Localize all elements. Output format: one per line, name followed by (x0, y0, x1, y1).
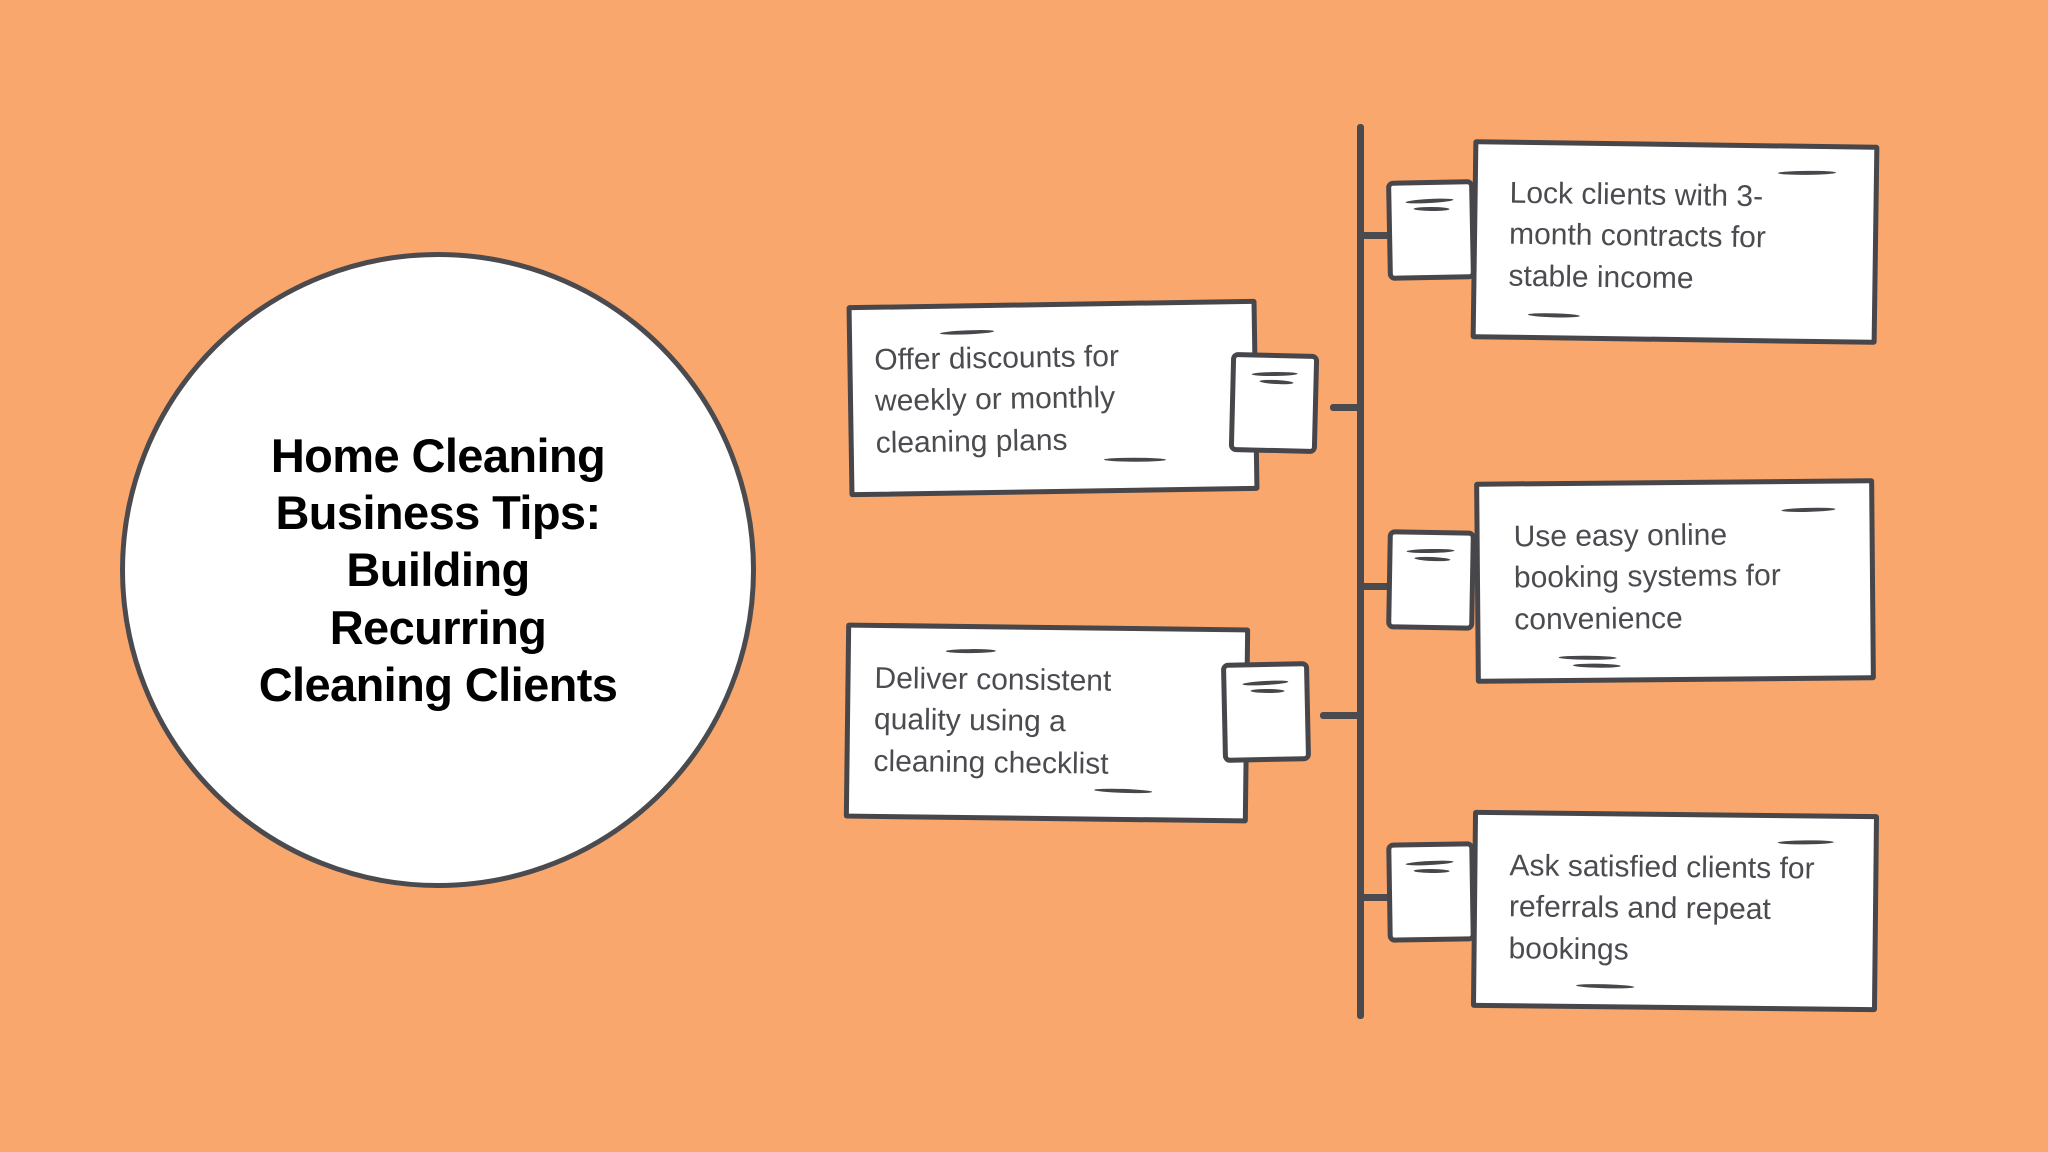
connector-tab-left-2 (1221, 661, 1311, 763)
scribble-dash-icon (1778, 171, 1836, 176)
page-title: Home Cleaning Business Tips: Building Re… (188, 427, 688, 714)
center-topic-circle: Home Cleaning Business Tips: Building Re… (120, 252, 756, 888)
scribble-dash-icon (1094, 788, 1152, 794)
scribble-dash-icon (1778, 840, 1834, 845)
scribble-dash-icon (940, 329, 994, 335)
scribble-dash-icon (1559, 656, 1617, 661)
connector-tab-right-1 (1386, 179, 1476, 281)
scribble-dash-icon (1259, 379, 1293, 385)
connector-tab-left-1 (1229, 352, 1319, 454)
note-card-right-2: Use easy online booking systems for conv… (1474, 478, 1876, 683)
connector-stub-left-1 (1330, 404, 1364, 411)
note-card-text: Use easy online booking systems for conv… (1513, 513, 1854, 640)
note-card-text: Deliver consistent quality using a clean… (873, 658, 1214, 786)
scribble-dash-icon (946, 649, 996, 653)
connector-tab-right-2 (1386, 529, 1476, 631)
scribble-dash-icon (1414, 869, 1450, 873)
note-card-text: Ask satisfied clients for referrals and … (1508, 845, 1854, 973)
scribble-dash-icon (1576, 983, 1634, 989)
infographic-canvas: Home Cleaning Business Tips: Building Re… (0, 0, 2048, 1152)
scribble-dash-icon (1414, 556, 1450, 562)
scribble-dash-icon (1414, 207, 1450, 211)
scribble-dash-icon (1528, 313, 1580, 318)
note-card-right-3: Ask satisfied clients for referrals and … (1471, 810, 1879, 1012)
scribble-dash-icon (1242, 680, 1288, 687)
connector-stub-left-2 (1320, 712, 1364, 719)
scribble-dash-icon (1781, 507, 1835, 512)
note-card-left-1: Offer discounts for weekly or monthly cl… (847, 299, 1260, 497)
spine-line (1357, 124, 1364, 1019)
note-card-right-1: Lock clients with 3- month contracts for… (1471, 139, 1880, 345)
scribble-dash-icon (1406, 549, 1454, 554)
note-card-text: Offer discounts for weekly or monthly cl… (874, 334, 1226, 464)
connector-tab-right-3 (1386, 841, 1476, 942)
scribble-dash-icon (1251, 689, 1285, 693)
scribble-dash-icon (1405, 860, 1453, 866)
scribble-dash-icon (1405, 198, 1453, 205)
note-card-text: Lock clients with 3- month contracts for… (1508, 173, 1850, 302)
scribble-dash-icon (1252, 372, 1298, 376)
scribble-dash-icon (1573, 663, 1621, 668)
note-card-left-2: Deliver consistent quality using a clean… (844, 623, 1250, 824)
